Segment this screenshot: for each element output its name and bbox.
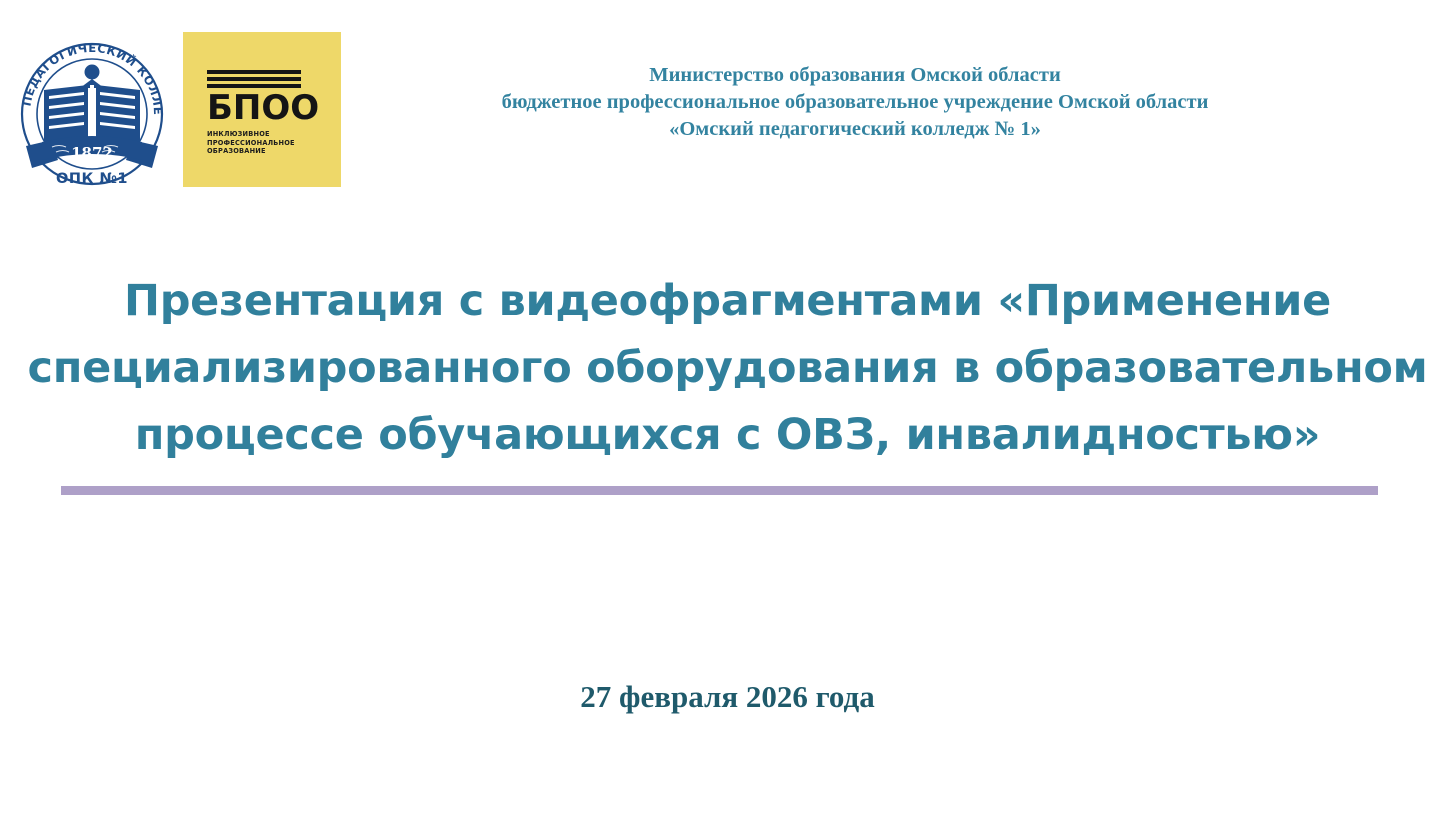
- divider: [61, 486, 1378, 495]
- bpoo-subtitle-line-3: ОБРАЗОВАНИЕ: [207, 147, 323, 156]
- institution-line-1: Министерство образования Омской области: [360, 62, 1350, 89]
- bpoo-bars-icon: [207, 70, 301, 88]
- institution-line-2: бюджетное профессиональное образовательн…: [360, 89, 1350, 116]
- institution-line-3: «Омский педагогический колледж № 1»: [360, 116, 1350, 143]
- presentation-date: 27 февраля 2026 года: [0, 678, 1455, 716]
- bpoo-logo-icon: БПОО ИНКЛЮЗИВНОЕ ПРОФЕССИОНАЛЬНОЕ ОБРАЗО…: [183, 32, 341, 187]
- title-slide: ОМСКИЙ ПЕДАГОГИЧЕСКИЙ КОЛЛЕДЖ № 1: [0, 0, 1455, 820]
- bpoo-wordmark: БПОО: [207, 91, 323, 125]
- svg-text:1872: 1872: [71, 144, 113, 162]
- institution-header: Министерство образования Омской области …: [360, 62, 1350, 143]
- college-seal-icon: ОМСКИЙ ПЕДАГОГИЧЕСКИЙ КОЛЛЕДЖ № 1: [12, 22, 172, 190]
- bpoo-subtitle: ИНКЛЮЗИВНОЕ ПРОФЕССИОНАЛЬНОЕ ОБРАЗОВАНИЕ: [207, 130, 323, 156]
- svg-text:ОПК №1: ОПК №1: [56, 171, 128, 187]
- bpoo-subtitle-line-1: ИНКЛЮЗИВНОЕ: [207, 130, 323, 139]
- bpoo-subtitle-line-2: ПРОФЕССИОНАЛЬНОЕ: [207, 139, 323, 148]
- page-title: Презентация с видеофрагментами «Применен…: [20, 268, 1435, 469]
